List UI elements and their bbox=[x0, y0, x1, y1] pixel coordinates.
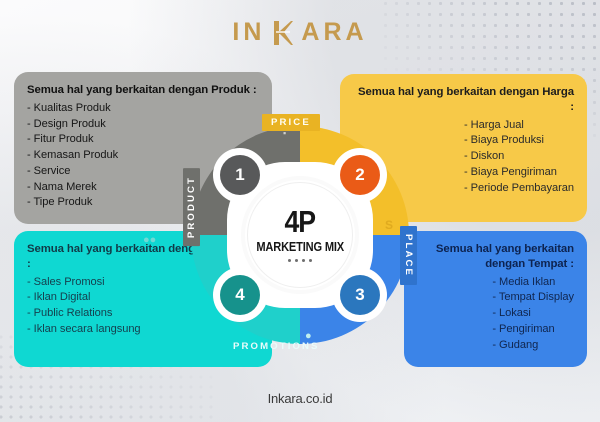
list-item: - Biaya Produksi bbox=[464, 133, 574, 149]
card-place: Semua hal yang berkaitan dengan Tempat :… bbox=[404, 231, 587, 367]
wheel-node-4-number: 4 bbox=[235, 285, 244, 305]
card-product-heading: Semua hal yang berkaitan dengan Produk : bbox=[27, 83, 259, 98]
list-item: - Diskon bbox=[464, 149, 574, 165]
list-item: - Kualitas Produk bbox=[27, 101, 259, 117]
list-item: - Harga Jual bbox=[464, 118, 574, 134]
list-item: - Biaya Pengiriman bbox=[464, 165, 574, 181]
ring-label-product: PRODUCT bbox=[183, 168, 200, 246]
hub-headline: 4P bbox=[285, 208, 316, 237]
list-item: - Media Iklan bbox=[492, 275, 574, 291]
brand-wordmark: IN ARA bbox=[232, 18, 367, 47]
k-monogram-icon bbox=[272, 20, 294, 46]
hub-subtitle: MARKETING MIX bbox=[256, 239, 344, 254]
ring-label-price: PRICE bbox=[262, 114, 320, 131]
list-item: - Tempat Display bbox=[492, 290, 574, 306]
wheel-node-1[interactable]: 1 bbox=[220, 155, 260, 195]
ring-label-place: PLACE bbox=[400, 226, 417, 285]
list-item: - Gudang bbox=[492, 338, 574, 354]
ring-label-promotions: PROMOTIONS bbox=[229, 339, 324, 354]
wheel-node-3[interactable]: 3 bbox=[340, 275, 380, 315]
infographic-canvas: IN ARA Semua hal yang berkaitan dengan P… bbox=[0, 0, 600, 422]
brand-text-ara: ARA bbox=[301, 18, 367, 47]
wheel-node-2[interactable]: 2 bbox=[340, 155, 380, 195]
list-item: - Pengiriman bbox=[492, 322, 574, 338]
card-place-heading: Semua hal yang berkaitan dengan Tempat : bbox=[417, 242, 574, 272]
wheel-node-1-number: 1 bbox=[235, 165, 244, 185]
hub-dots bbox=[288, 259, 312, 262]
card-price-heading: Semua hal yang berkaitan dengan Harga : bbox=[353, 85, 574, 115]
brand-logo: IN ARA bbox=[0, 18, 600, 47]
wheel-node-4[interactable]: 4 bbox=[220, 275, 260, 315]
brand-text-in: IN bbox=[232, 18, 265, 47]
wheel-node-3-number: 3 bbox=[355, 285, 364, 305]
card-price-list: - Harga Jual - Biaya Produksi - Diskon -… bbox=[464, 118, 574, 197]
list-item: - Periode Pembayaran bbox=[464, 181, 574, 197]
footer-url: Inkara.co.id bbox=[0, 391, 600, 406]
list-item: - Lokasi bbox=[492, 306, 574, 322]
four-p-wheel: 1 2 3 4 4P MARKETING MIX PRODUCT PRICE P… bbox=[187, 122, 413, 348]
card-place-list: - Media Iklan - Tempat Display - Lokasi … bbox=[492, 275, 574, 354]
wheel-node-2-number: 2 bbox=[355, 165, 364, 185]
wheel-hub: 4P MARKETING MIX bbox=[241, 176, 359, 294]
